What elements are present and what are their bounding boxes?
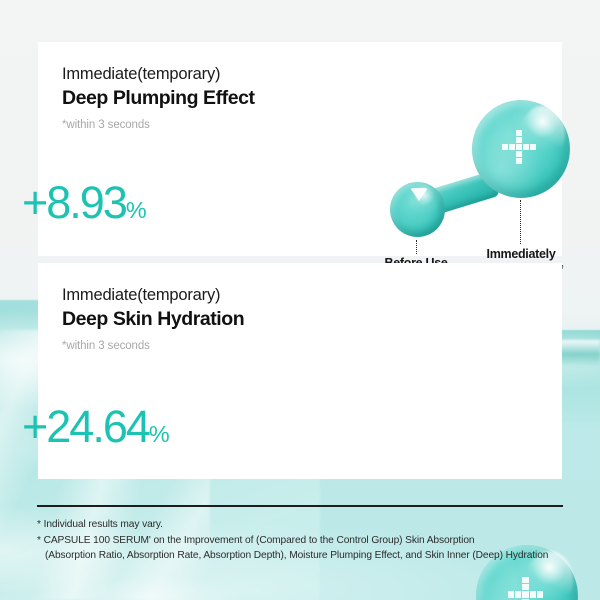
card-eyebrow: Immediate(temporary) <box>62 285 244 306</box>
plus-dots-icon <box>502 130 536 164</box>
card-headline: Deep Plumping Effect <box>62 86 255 110</box>
footnote-line-2: * CAPSULE 100 SERUM' on the Improvement … <box>37 533 577 549</box>
footnote-divider <box>37 505 563 507</box>
promo-infographic: Immediate(temporary) Deep Plumping Effec… <box>0 0 600 600</box>
card-subnote: *within 3 seconds <box>62 119 255 131</box>
serum-droplet-comparison-graphic: Before Use Immediately After One Use* <box>368 90 568 250</box>
droplet-after-use <box>472 100 570 198</box>
card-text-block: Immediate(temporary) Deep Plumping Effec… <box>62 64 255 131</box>
droplet-before-use <box>390 182 445 237</box>
metric-plumping: +8.93% <box>22 180 146 225</box>
footnote-line-3: (Absorption Ratio, Absorption Rate, Abso… <box>37 548 577 564</box>
metric-unit: % <box>126 197 146 223</box>
leader-line-before <box>416 240 417 254</box>
card-headline: Deep Skin Hydration <box>62 307 244 331</box>
leader-line-after <box>520 200 521 244</box>
metric-value: +24.64 <box>22 401 149 452</box>
card-eyebrow: Immediate(temporary) <box>62 64 255 85</box>
plus-dots-icon <box>508 577 543 600</box>
card-text-block: Immediate(temporary) Deep Skin Hydration… <box>62 285 244 352</box>
metric-unit: % <box>149 421 169 447</box>
card-subnote: *within 3 seconds <box>62 340 244 352</box>
metric-value: +8.93 <box>22 177 126 228</box>
metric-hydration: +24.64% <box>22 404 169 449</box>
footnote-block: * Individual results may vary. * CAPSULE… <box>37 517 577 564</box>
label-after-line1: Immediately <box>479 247 563 262</box>
footnote-line-1: * Individual results may vary. <box>37 517 577 533</box>
